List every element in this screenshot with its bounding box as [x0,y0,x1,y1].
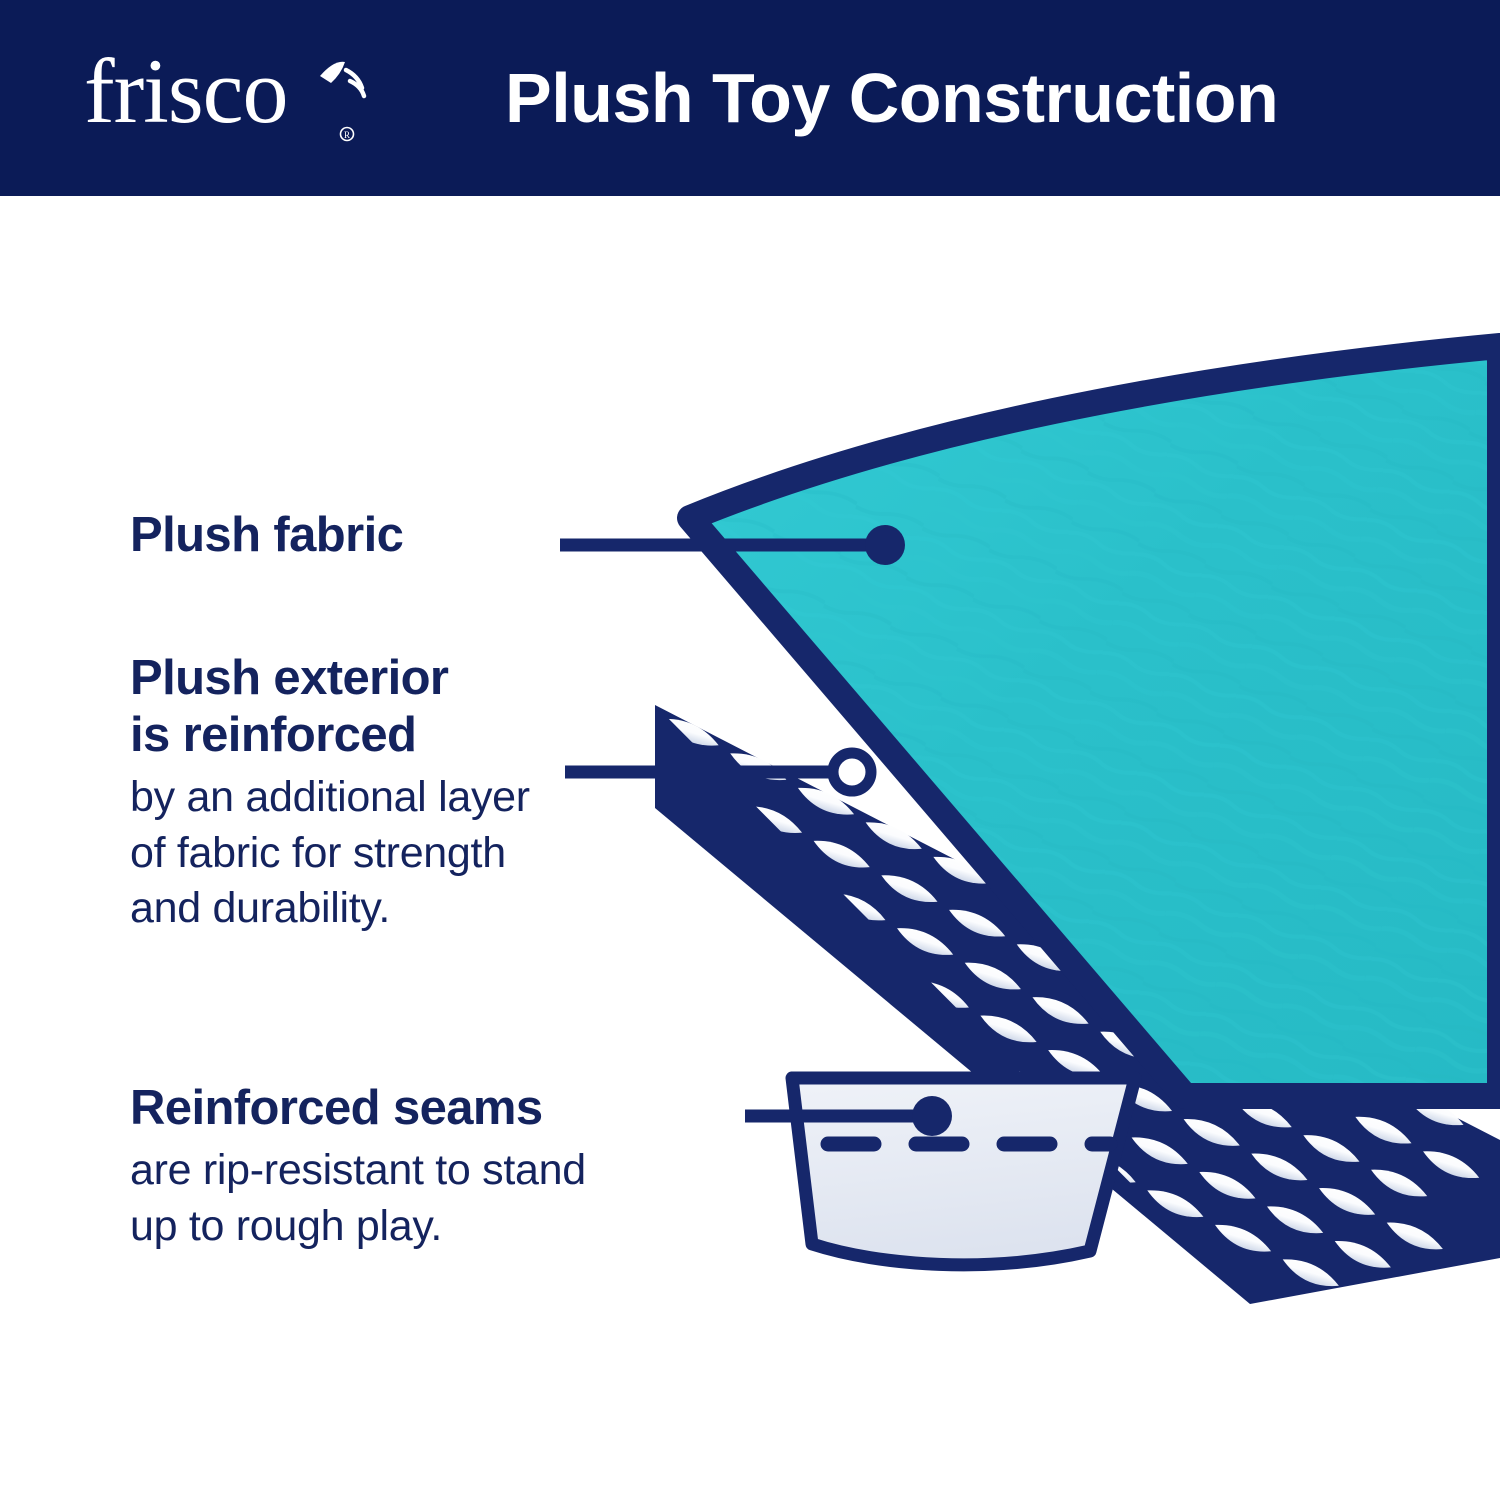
leader-dot-reinforced-seams [912,1096,952,1136]
callout-reinforced-seams: Reinforced seams are rip-resistant to st… [130,1080,586,1255]
callout-plush-fabric: Plush fabric [130,507,403,564]
registered-mark-letter: R [344,130,350,140]
frisco-wordmark: frisco [84,40,287,142]
frisco-ear-icon [320,62,345,83]
callout-reinforced-seams-body: are rip-resistant to stand up to rough p… [130,1143,586,1255]
callout-plush-fabric-headline: Plush fabric [130,507,403,564]
header-bar: frisco R Plush Toy Construction [0,0,1500,196]
seam-flap-layer [792,1078,1135,1265]
frisco-logo: frisco R [84,40,384,150]
frisco-logo-svg: frisco R [84,40,384,150]
callout-plush-exterior: Plush exterior is reinforced by an addit… [130,650,530,937]
callout-plush-exterior-body: by an additional layer of fabric for str… [130,770,530,938]
seam-flap-shape [792,1078,1135,1265]
leader-dot-plush-exterior [833,753,871,791]
page-title: Plush Toy Construction [505,0,1278,196]
infographic-page: frisco R Plush Toy Construction [0,0,1500,1500]
callout-reinforced-seams-headline: Reinforced seams [130,1080,586,1137]
leader-dot-plush-fabric [865,525,905,565]
plush-fabric-layer [690,346,1500,1096]
callout-plush-exterior-headline: Plush exterior is reinforced [130,650,530,764]
